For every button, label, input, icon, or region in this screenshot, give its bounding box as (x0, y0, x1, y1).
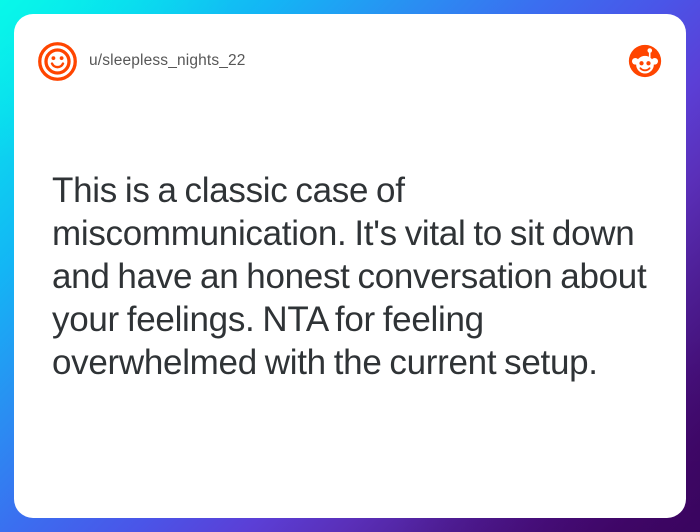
post-header: u/sleepless_nights_22 (14, 14, 686, 108)
post-body-text: This is a classic case of miscommunicati… (52, 169, 664, 384)
reddit-snoo-icon[interactable] (628, 44, 662, 78)
reddit-post-card: u/sleepless_nights_22 This is a classic … (14, 14, 686, 518)
smiley-face-circle-icon[interactable] (38, 42, 77, 81)
post-author-username[interactable]: u/sleepless_nights_22 (89, 52, 246, 70)
